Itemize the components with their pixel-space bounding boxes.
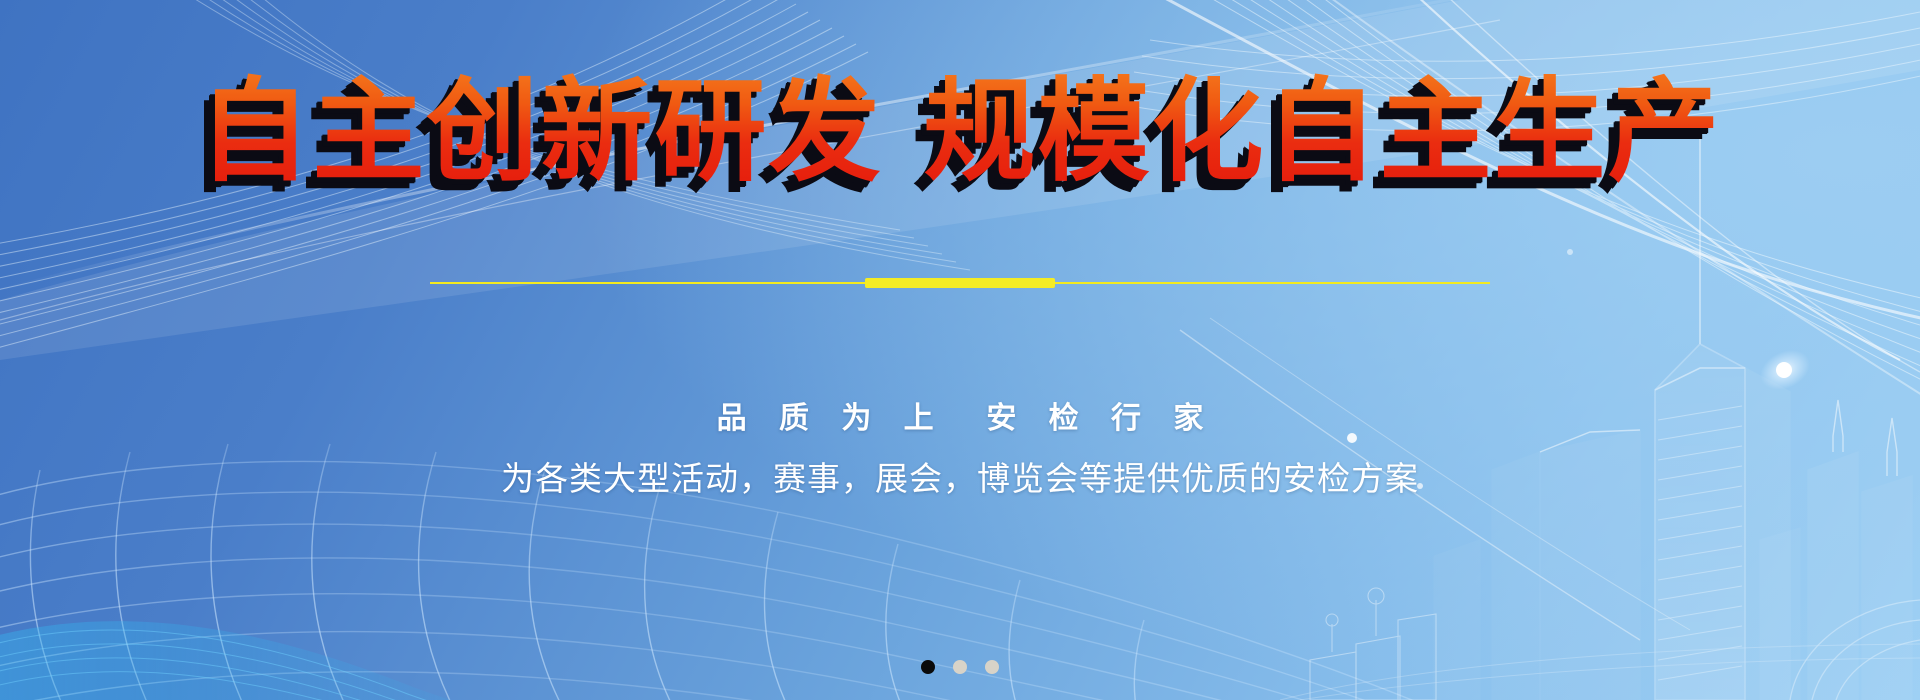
hero-banner: 自主创新研发 规模化自主生产 品 质 为 上 安 检 行 家 为各类大型活动，赛… <box>0 0 1920 700</box>
comet-orbit <box>1400 0 1920 398</box>
carousel-dots[interactable] <box>921 660 999 674</box>
carousel-dot-3[interactable] <box>985 660 999 674</box>
wave-strip <box>0 621 622 700</box>
divider-center-bar <box>865 278 1055 288</box>
banner-slogan: 品 质 为 上 安 检 行 家 <box>0 393 1920 437</box>
line-fan-right <box>1118 0 1920 400</box>
carousel-dot-1[interactable] <box>921 660 935 674</box>
carousel-dot-2[interactable] <box>953 660 967 674</box>
banner-description: 为各类大型活动，赛事，展会，博览会等提供优质的安检方案 <box>0 452 1920 500</box>
divider <box>430 278 1490 288</box>
banner-title: 自主创新研发 规模化自主生产 <box>0 72 1920 193</box>
